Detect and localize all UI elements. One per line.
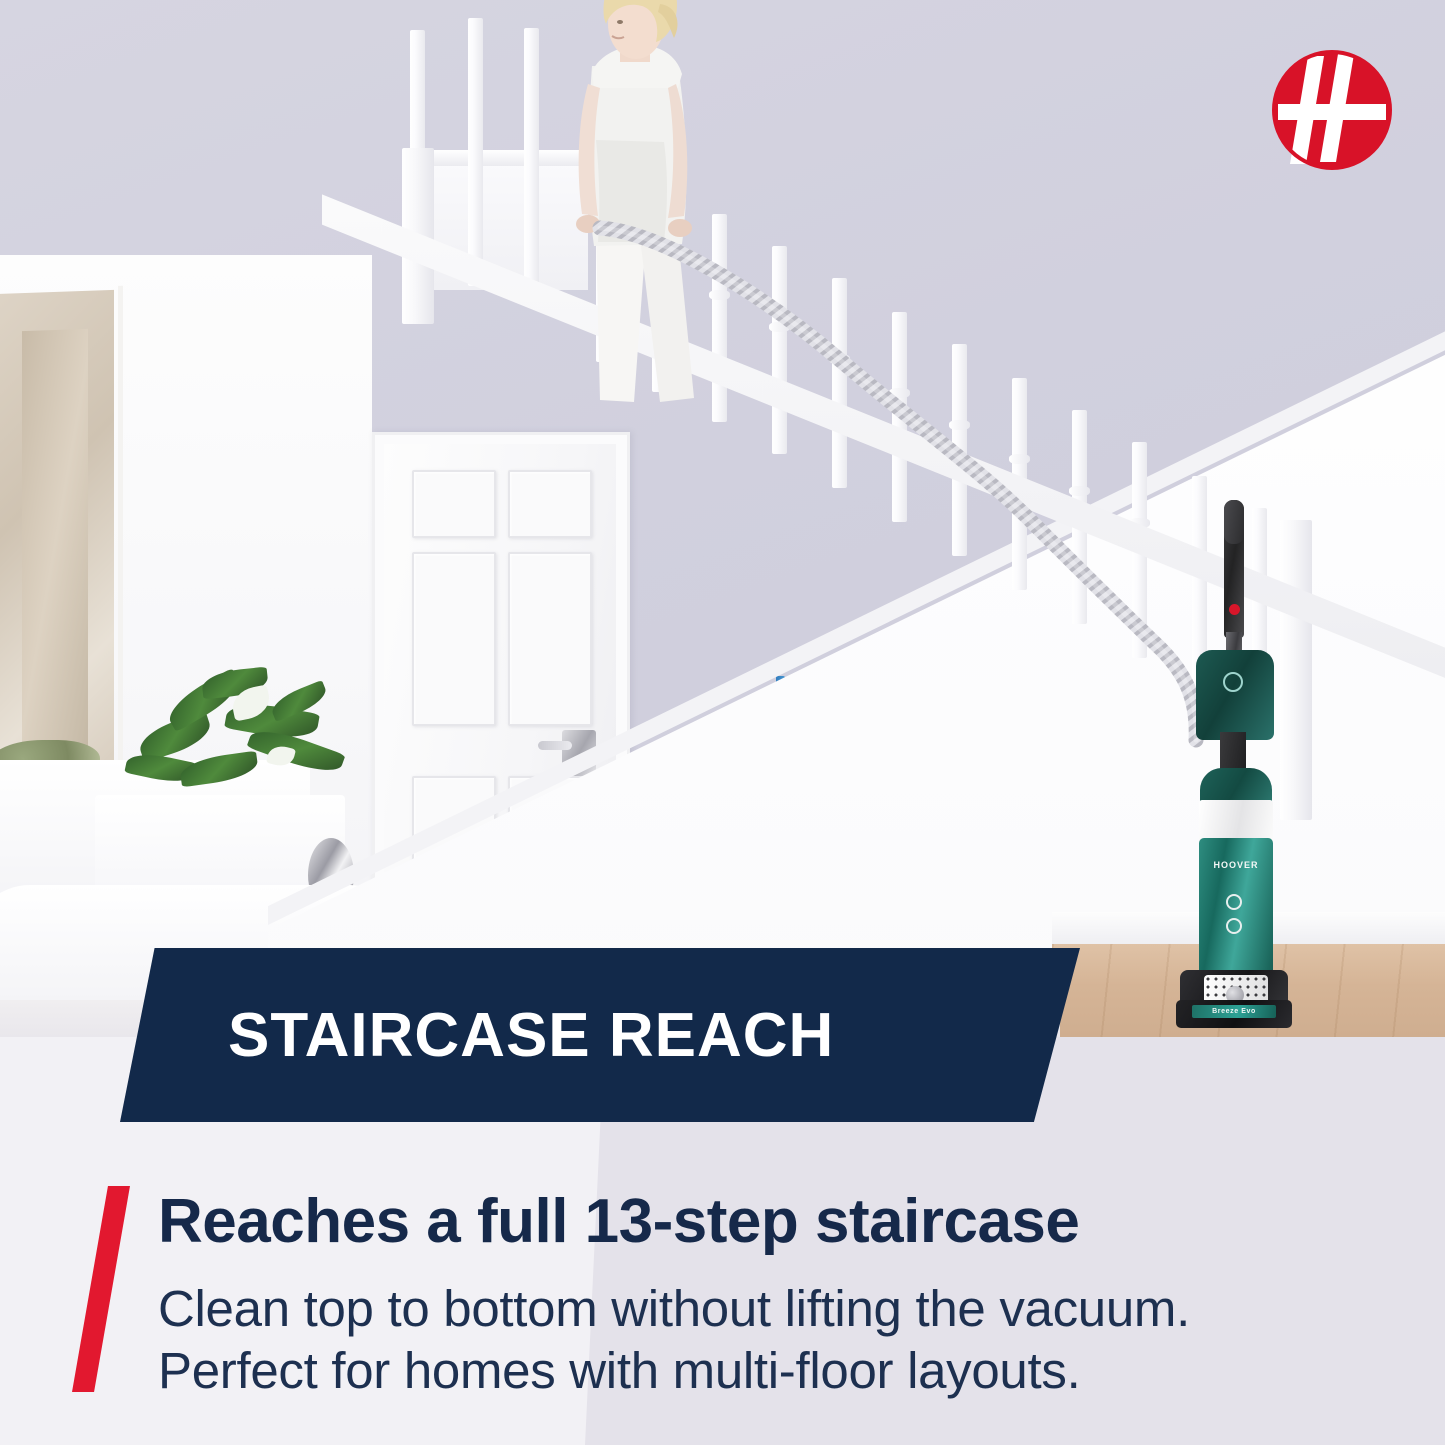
- body-copy: Clean top to bottom without lifting the …: [158, 1278, 1190, 1402]
- vacuum-grip: [1224, 500, 1244, 544]
- body-copy-line-2: Perfect for homes with multi-floor layou…: [158, 1340, 1190, 1402]
- staircase-reach-banner: STAIRCASE REACH: [120, 948, 1080, 1122]
- body-copy-line-1: Clean top to bottom without lifting the …: [158, 1278, 1190, 1340]
- headline: Reaches a full 13-step staircase: [158, 1186, 1079, 1257]
- hoover-dot-icon: [1229, 604, 1240, 615]
- vacuum-badge-icon: [1226, 894, 1242, 910]
- vacuum-yoke: [1196, 650, 1274, 740]
- marketing-card: HOOVER Breeze Evo STAIRCASE REACH: [0, 0, 1445, 1445]
- vacuum-bin-collar: [1199, 800, 1273, 842]
- hero-photo: HOOVER Breeze Evo: [0, 0, 1445, 1037]
- vacuum-model-label: Breeze Evo: [1192, 1005, 1276, 1018]
- vacuum-model-plate: Breeze Evo: [1192, 1005, 1276, 1018]
- hoover-vacuum-cleaner: HOOVER Breeze Evo: [1168, 500, 1298, 1020]
- hoover-h-logo: [1272, 50, 1392, 170]
- vacuum-paw-icon: [1226, 918, 1242, 934]
- vacuum-yoke-badge-icon: [1223, 672, 1243, 692]
- vacuum-brand-label: HOOVER: [1199, 860, 1273, 870]
- banner-title: STAIRCASE REACH: [228, 1000, 834, 1071]
